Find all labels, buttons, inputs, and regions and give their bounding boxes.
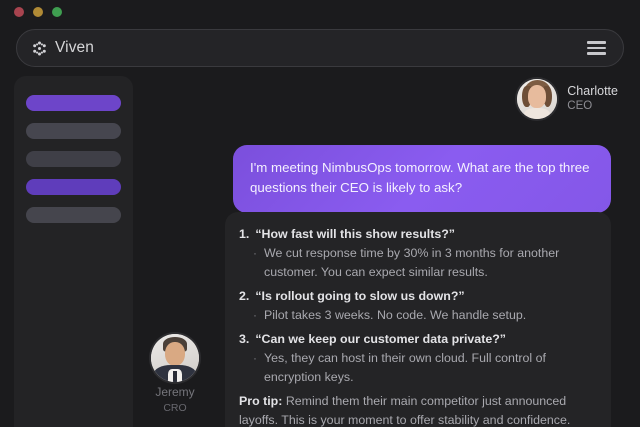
- list-item: 3. “Can we keep our customer data privat…: [239, 330, 595, 387]
- sidebar-item-2[interactable]: [26, 123, 121, 139]
- window-controls: [14, 7, 62, 17]
- brand-name: Viven: [55, 39, 94, 57]
- top-persona: Charlotte CEO: [517, 79, 618, 119]
- bullet-icon: ·: [253, 306, 257, 325]
- title-bar: [0, 0, 640, 24]
- top-persona-meta: Charlotte CEO: [567, 84, 618, 114]
- question-text: “Is rollout going to slow us down?”: [255, 287, 464, 306]
- bottom-persona: Jeremy CRO: [149, 334, 201, 415]
- pro-tip-label: Pro tip:: [239, 394, 282, 408]
- assistant-answer-card: 1. “How fast will this show results?” · …: [225, 212, 611, 427]
- hamburger-menu-icon[interactable]: [586, 38, 607, 58]
- answer-line: · Pilot takes 3 weeks. No code. We handl…: [239, 306, 595, 325]
- sidebar: [14, 76, 133, 427]
- question-number: 3.: [239, 330, 249, 349]
- question-line: 1. “How fast will this show results?”: [239, 225, 595, 244]
- sidebar-item-5[interactable]: [26, 207, 121, 223]
- sidebar-item-3[interactable]: [26, 151, 121, 167]
- brand[interactable]: Viven: [31, 39, 94, 57]
- answer-line: · We cut response time by 30% in 3 month…: [239, 244, 595, 282]
- answer-text: Yes, they can host in their own cloud. F…: [264, 349, 595, 387]
- list-item: 2. “Is rollout going to slow us down?” ·…: [239, 287, 595, 325]
- app-topbar: Viven: [16, 29, 624, 67]
- question-number: 2.: [239, 287, 249, 306]
- bullet-icon: ·: [253, 244, 257, 282]
- question-list: 1. “How fast will this show results?” · …: [239, 225, 595, 387]
- jeremy-avatar: [151, 334, 199, 382]
- user-message-text: I'm meeting NimbusOps tomorrow. What are…: [250, 158, 594, 198]
- charlotte-avatar: [517, 79, 557, 119]
- list-item: 1. “How fast will this show results?” · …: [239, 225, 595, 282]
- close-button[interactable]: [14, 7, 24, 17]
- answer-text: We cut response time by 30% in 3 months …: [264, 244, 595, 282]
- question-line: 3. “Can we keep our customer data privat…: [239, 330, 595, 349]
- bottom-persona-name: Jeremy: [155, 385, 194, 399]
- top-persona-name: Charlotte: [567, 84, 618, 99]
- minimize-button[interactable]: [33, 7, 43, 17]
- question-line: 2. “Is rollout going to slow us down?”: [239, 287, 595, 306]
- app-window: Viven Charlotte CEO I'm meeti: [0, 0, 640, 427]
- top-persona-role: CEO: [567, 99, 618, 114]
- maximize-button[interactable]: [52, 7, 62, 17]
- bullet-icon: ·: [253, 349, 257, 387]
- user-message-bubble: I'm meeting NimbusOps tomorrow. What are…: [233, 145, 611, 213]
- flower-cluster-logo-icon: [31, 40, 48, 57]
- pro-tip: Pro tip: Remind them their main competit…: [239, 392, 595, 427]
- sidebar-item-1[interactable]: [26, 95, 121, 111]
- chat-panel: Charlotte CEO I'm meeting NimbusOps tomo…: [150, 76, 626, 427]
- pro-tip-text: Remind them their main competitor just a…: [239, 394, 570, 427]
- bottom-persona-role: CRO: [163, 402, 186, 415]
- question-text: “How fast will this show results?”: [255, 225, 455, 244]
- answer-line: · Yes, they can host in their own cloud.…: [239, 349, 595, 387]
- answer-text: Pilot takes 3 weeks. No code. We handle …: [264, 306, 526, 325]
- sidebar-item-4[interactable]: [26, 179, 121, 195]
- question-number: 1.: [239, 225, 249, 244]
- question-text: “Can we keep our customer data private?”: [255, 330, 506, 349]
